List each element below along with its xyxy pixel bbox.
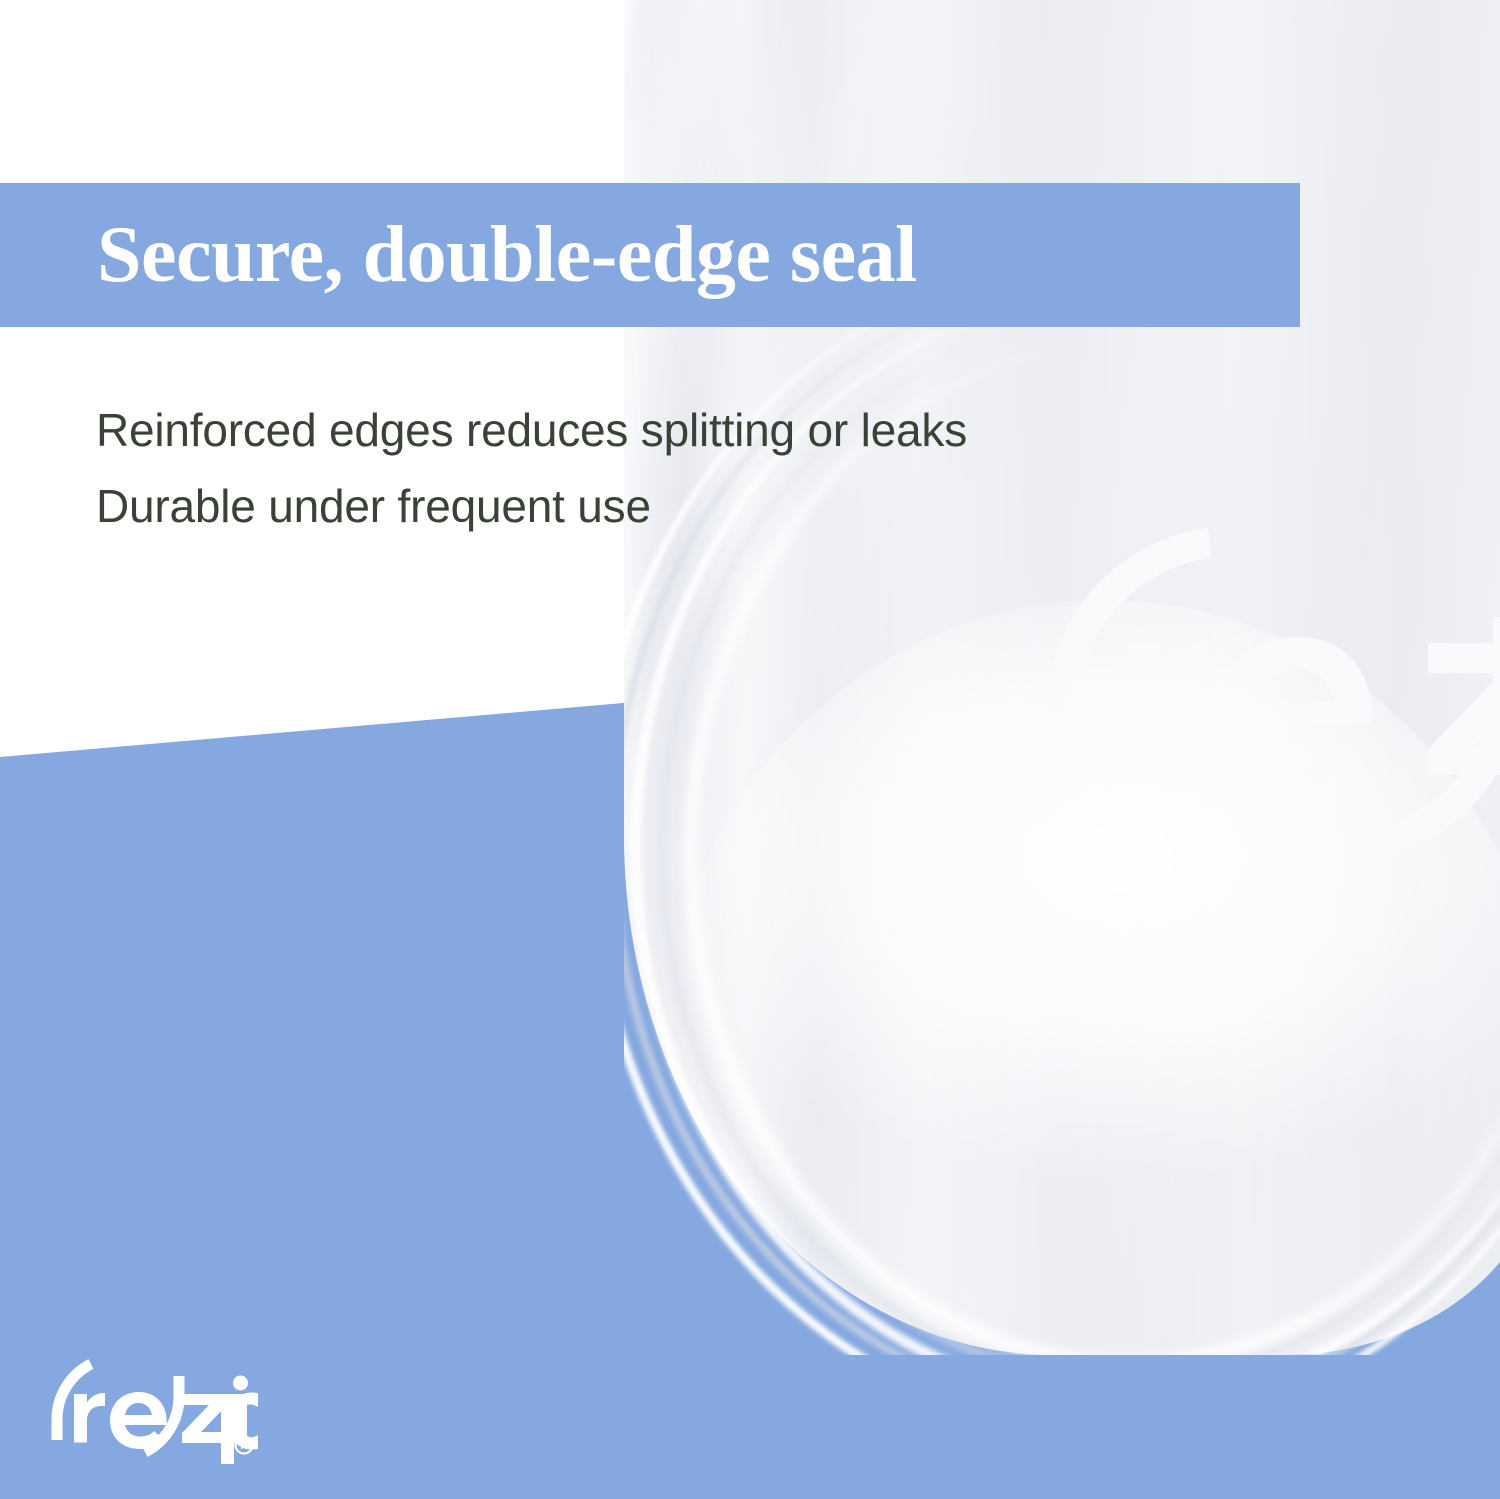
plastic-highlight xyxy=(664,600,1500,1360)
svg-text:R: R xyxy=(240,1441,248,1452)
feature-line-1: Reinforced edges reduces splitting or le… xyxy=(96,392,1276,468)
product-feature-card: Secure, double-edge seal Reinforced edge… xyxy=(0,0,1500,1499)
headline-banner: Secure, double-edge seal xyxy=(0,183,1300,327)
rezip-brand-logo-icon: R xyxy=(48,1352,258,1464)
headline-text: Secure, double-edge seal xyxy=(97,215,917,295)
feature-line-2: Durable under frequent use xyxy=(96,468,1276,544)
feature-description: Reinforced edges reduces splitting or le… xyxy=(96,392,1276,544)
